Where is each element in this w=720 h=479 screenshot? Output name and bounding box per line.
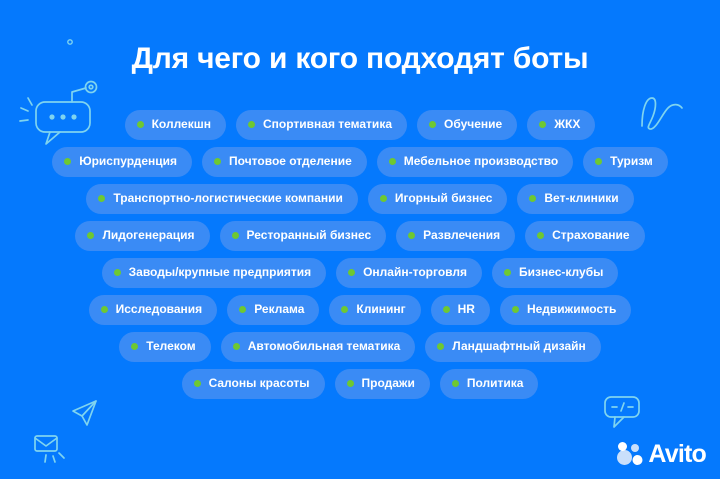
tag-item[interactable]: Развлечения: [396, 221, 515, 251]
tag-label: Коллекшн: [152, 117, 211, 132]
tag-row: Лидогенерация Ресторанный бизнес Развлеч…: [0, 221, 720, 251]
tag-item[interactable]: Телеком: [119, 332, 210, 362]
tag-item[interactable]: Онлайн-торговля: [336, 258, 482, 288]
bullet-dot-icon: [539, 121, 546, 128]
bullet-dot-icon: [380, 195, 387, 202]
tag-label: Политика: [467, 376, 524, 391]
bullet-dot-icon: [595, 158, 602, 165]
tag-row: Исследования Реклама Клининг HR Недвижим…: [0, 295, 720, 325]
tag-label: ЖКХ: [554, 117, 580, 132]
bullet-dot-icon: [504, 269, 511, 276]
bullet-dot-icon: [131, 343, 138, 350]
tag-item[interactable]: Реклама: [227, 295, 319, 325]
tag-label: Мебельное производство: [404, 154, 558, 169]
bullet-dot-icon: [87, 232, 94, 239]
tag-label: Страхование: [552, 228, 629, 243]
tag-item[interactable]: Туризм: [583, 147, 668, 177]
tag-label: Игорный бизнес: [395, 191, 493, 206]
tag-item[interactable]: Салоны красоты: [182, 369, 325, 399]
tag-item[interactable]: Ресторанный бизнес: [220, 221, 387, 251]
tag-item[interactable]: Коллекшн: [125, 110, 226, 140]
envelope-icon: [32, 432, 70, 466]
tag-item[interactable]: Спортивная тематика: [236, 110, 407, 140]
bullet-dot-icon: [537, 232, 544, 239]
tag-label: Реклама: [254, 302, 304, 317]
tag-label: Обучение: [444, 117, 502, 132]
tag-row: Салоны красоты Продажи Политика: [0, 369, 720, 399]
bullet-dot-icon: [101, 306, 108, 313]
avito-wordmark: Avito: [648, 442, 706, 467]
bullet-dot-icon: [512, 306, 519, 313]
tag-item[interactable]: Мебельное производство: [377, 147, 573, 177]
bullet-dot-icon: [239, 306, 246, 313]
page-title: Для чего и кого подходят боты: [0, 40, 720, 78]
tag-label: Продажи: [362, 376, 415, 391]
tag-item[interactable]: Страхование: [525, 221, 644, 251]
bullet-dot-icon: [194, 380, 201, 387]
tag-label: Недвижимость: [527, 302, 616, 317]
bullet-dot-icon: [341, 306, 348, 313]
tag-item[interactable]: Игорный бизнес: [368, 184, 508, 214]
bullet-dot-icon: [214, 158, 221, 165]
bullet-dot-icon: [452, 380, 459, 387]
avito-dots-logo: [617, 442, 644, 467]
tag-label: Юриспурденция: [79, 154, 177, 169]
tag-item[interactable]: Заводы/крупные предприятия: [102, 258, 326, 288]
tag-item[interactable]: Исследования: [89, 295, 218, 325]
bullet-dot-icon: [408, 232, 415, 239]
tag-label: Лидогенерация: [102, 228, 194, 243]
tag-label: Исследования: [116, 302, 203, 317]
bullet-dot-icon: [98, 195, 105, 202]
tag-item[interactable]: Ландшафтный дизайн: [425, 332, 600, 362]
tag-label: Клининг: [356, 302, 405, 317]
tag-item[interactable]: Обучение: [417, 110, 517, 140]
tag-label: Ландшафтный дизайн: [452, 339, 585, 354]
tag-item[interactable]: Политика: [440, 369, 539, 399]
tag-item[interactable]: Транспортно-логистические компании: [86, 184, 357, 214]
tag-item[interactable]: Продажи: [335, 369, 430, 399]
tag-row: Юриспурденция Почтовое отделение Мебельн…: [0, 147, 720, 177]
tag-item[interactable]: Вет-клиники: [517, 184, 633, 214]
tag-item[interactable]: Бизнес-клубы: [492, 258, 618, 288]
tag-label: Вет-клиники: [544, 191, 618, 206]
tag-item[interactable]: Лидогенерация: [75, 221, 209, 251]
bullet-dot-icon: [114, 269, 121, 276]
bullet-dot-icon: [233, 343, 240, 350]
bullet-dot-icon: [437, 343, 444, 350]
bullet-dot-icon: [348, 269, 355, 276]
tag-item[interactable]: Автомобильная тематика: [221, 332, 416, 362]
tag-label: HR: [458, 302, 475, 317]
bullet-dot-icon: [429, 121, 436, 128]
avito-logo: Avito: [617, 442, 706, 467]
bullet-dot-icon: [347, 380, 354, 387]
tag-item[interactable]: Недвижимость: [500, 295, 631, 325]
tag-label: Салоны красоты: [209, 376, 310, 391]
tag-label: Заводы/крупные предприятия: [129, 265, 311, 280]
tag-label: Автомобильная тематика: [248, 339, 401, 354]
tag-label: Спортивная тематика: [263, 117, 392, 132]
bullet-dot-icon: [389, 158, 396, 165]
tag-item[interactable]: Юриспурденция: [52, 147, 192, 177]
bullet-dot-icon: [232, 232, 239, 239]
tag-label: Туризм: [610, 154, 653, 169]
tag-list: Коллекшн Спортивная тематика Обучение ЖК…: [0, 110, 720, 399]
tag-item[interactable]: ЖКХ: [527, 110, 595, 140]
tag-label: Онлайн-торговля: [363, 265, 467, 280]
paper-plane-icon: [68, 398, 102, 432]
tag-label: Бизнес-клубы: [519, 265, 603, 280]
bullet-dot-icon: [64, 158, 71, 165]
tag-row: Телеком Автомобильная тематика Ландшафтн…: [0, 332, 720, 362]
bullet-dot-icon: [529, 195, 536, 202]
tag-item[interactable]: Почтовое отделение: [202, 147, 367, 177]
speech-bubble-icon: [602, 394, 644, 430]
tag-item[interactable]: Клининг: [329, 295, 420, 325]
bullet-dot-icon: [443, 306, 450, 313]
tag-item[interactable]: HR: [431, 295, 490, 325]
bullet-dot-icon: [248, 121, 255, 128]
tag-label: Транспортно-логистические компании: [113, 191, 342, 206]
poster-canvas: Для чего и кого подходят боты Коллекшн С…: [0, 0, 720, 479]
tag-label: Телеком: [146, 339, 195, 354]
tag-row: Транспортно-логистические компании Игорн…: [0, 184, 720, 214]
bullet-dot-icon: [137, 121, 144, 128]
tag-row: Коллекшн Спортивная тематика Обучение ЖК…: [0, 110, 720, 140]
tag-label: Почтовое отделение: [229, 154, 352, 169]
tag-row: Заводы/крупные предприятия Онлайн-торгов…: [0, 258, 720, 288]
tag-label: Ресторанный бизнес: [247, 228, 372, 243]
tag-label: Развлечения: [423, 228, 500, 243]
